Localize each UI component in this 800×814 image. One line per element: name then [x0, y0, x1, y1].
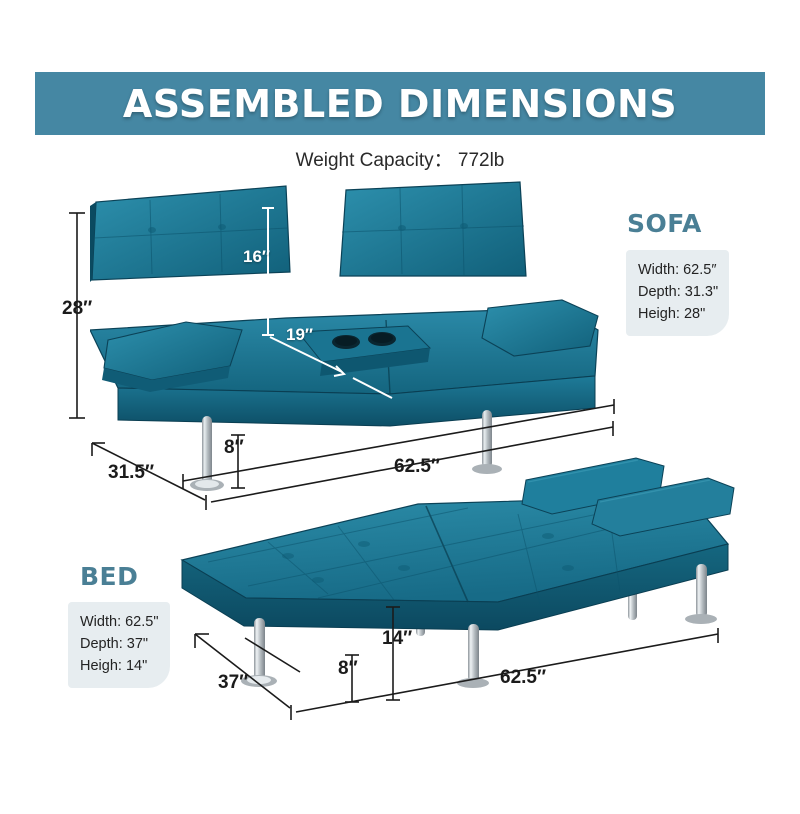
weight-capacity-text: Weight Capacity： 772lb [0, 145, 800, 172]
bed-illustration [168, 452, 738, 692]
bed-section-label: BED [80, 562, 138, 591]
sofa-side-depth-dimension: 31.5″ [108, 462, 154, 484]
sofa-height-spec: Heigh: 28" [638, 304, 718, 326]
infographic-canvas: ASSEMBLED DIMENSIONS Weight Capacity： 77… [0, 0, 800, 814]
title-banner: ASSEMBLED DIMENSIONS [35, 72, 765, 135]
sofa-section-label: SOFA [627, 209, 702, 238]
bed-leg-height-dimension: 8″ [338, 658, 358, 680]
bed-width-spec: Width: 62.5" [80, 612, 159, 634]
page-title: ASSEMBLED DIMENSIONS [123, 82, 677, 126]
bed-side-depth-dimension: 37″ [218, 672, 248, 694]
sofa-leg-height-dimension: 8″ [224, 437, 244, 459]
sofa-seat-depth-dimension: 19″ [286, 325, 313, 345]
sofa-width-dimension: 62.5″ [394, 456, 440, 478]
sofa-specs-box: Width: 62.5″ Depth: 31.3" Heigh: 28" [626, 250, 729, 336]
sofa-height-dimension: 28″ [62, 298, 92, 320]
bed-specs-box: Width: 62.5" Depth: 37" Heigh: 14" [68, 602, 170, 688]
bed-width-dimension: 62.5″ [500, 667, 546, 689]
sofa-depth-spec: Depth: 31.3" [638, 282, 718, 304]
bed-depth-spec: Depth: 37" [80, 634, 159, 656]
sofa-back-height-dimension: 16″ [243, 247, 270, 267]
bed-total-height-dimension: 14″ [382, 628, 412, 650]
sofa-width-spec: Width: 62.5″ [638, 260, 718, 282]
bed-height-spec: Heigh: 14" [80, 656, 159, 678]
